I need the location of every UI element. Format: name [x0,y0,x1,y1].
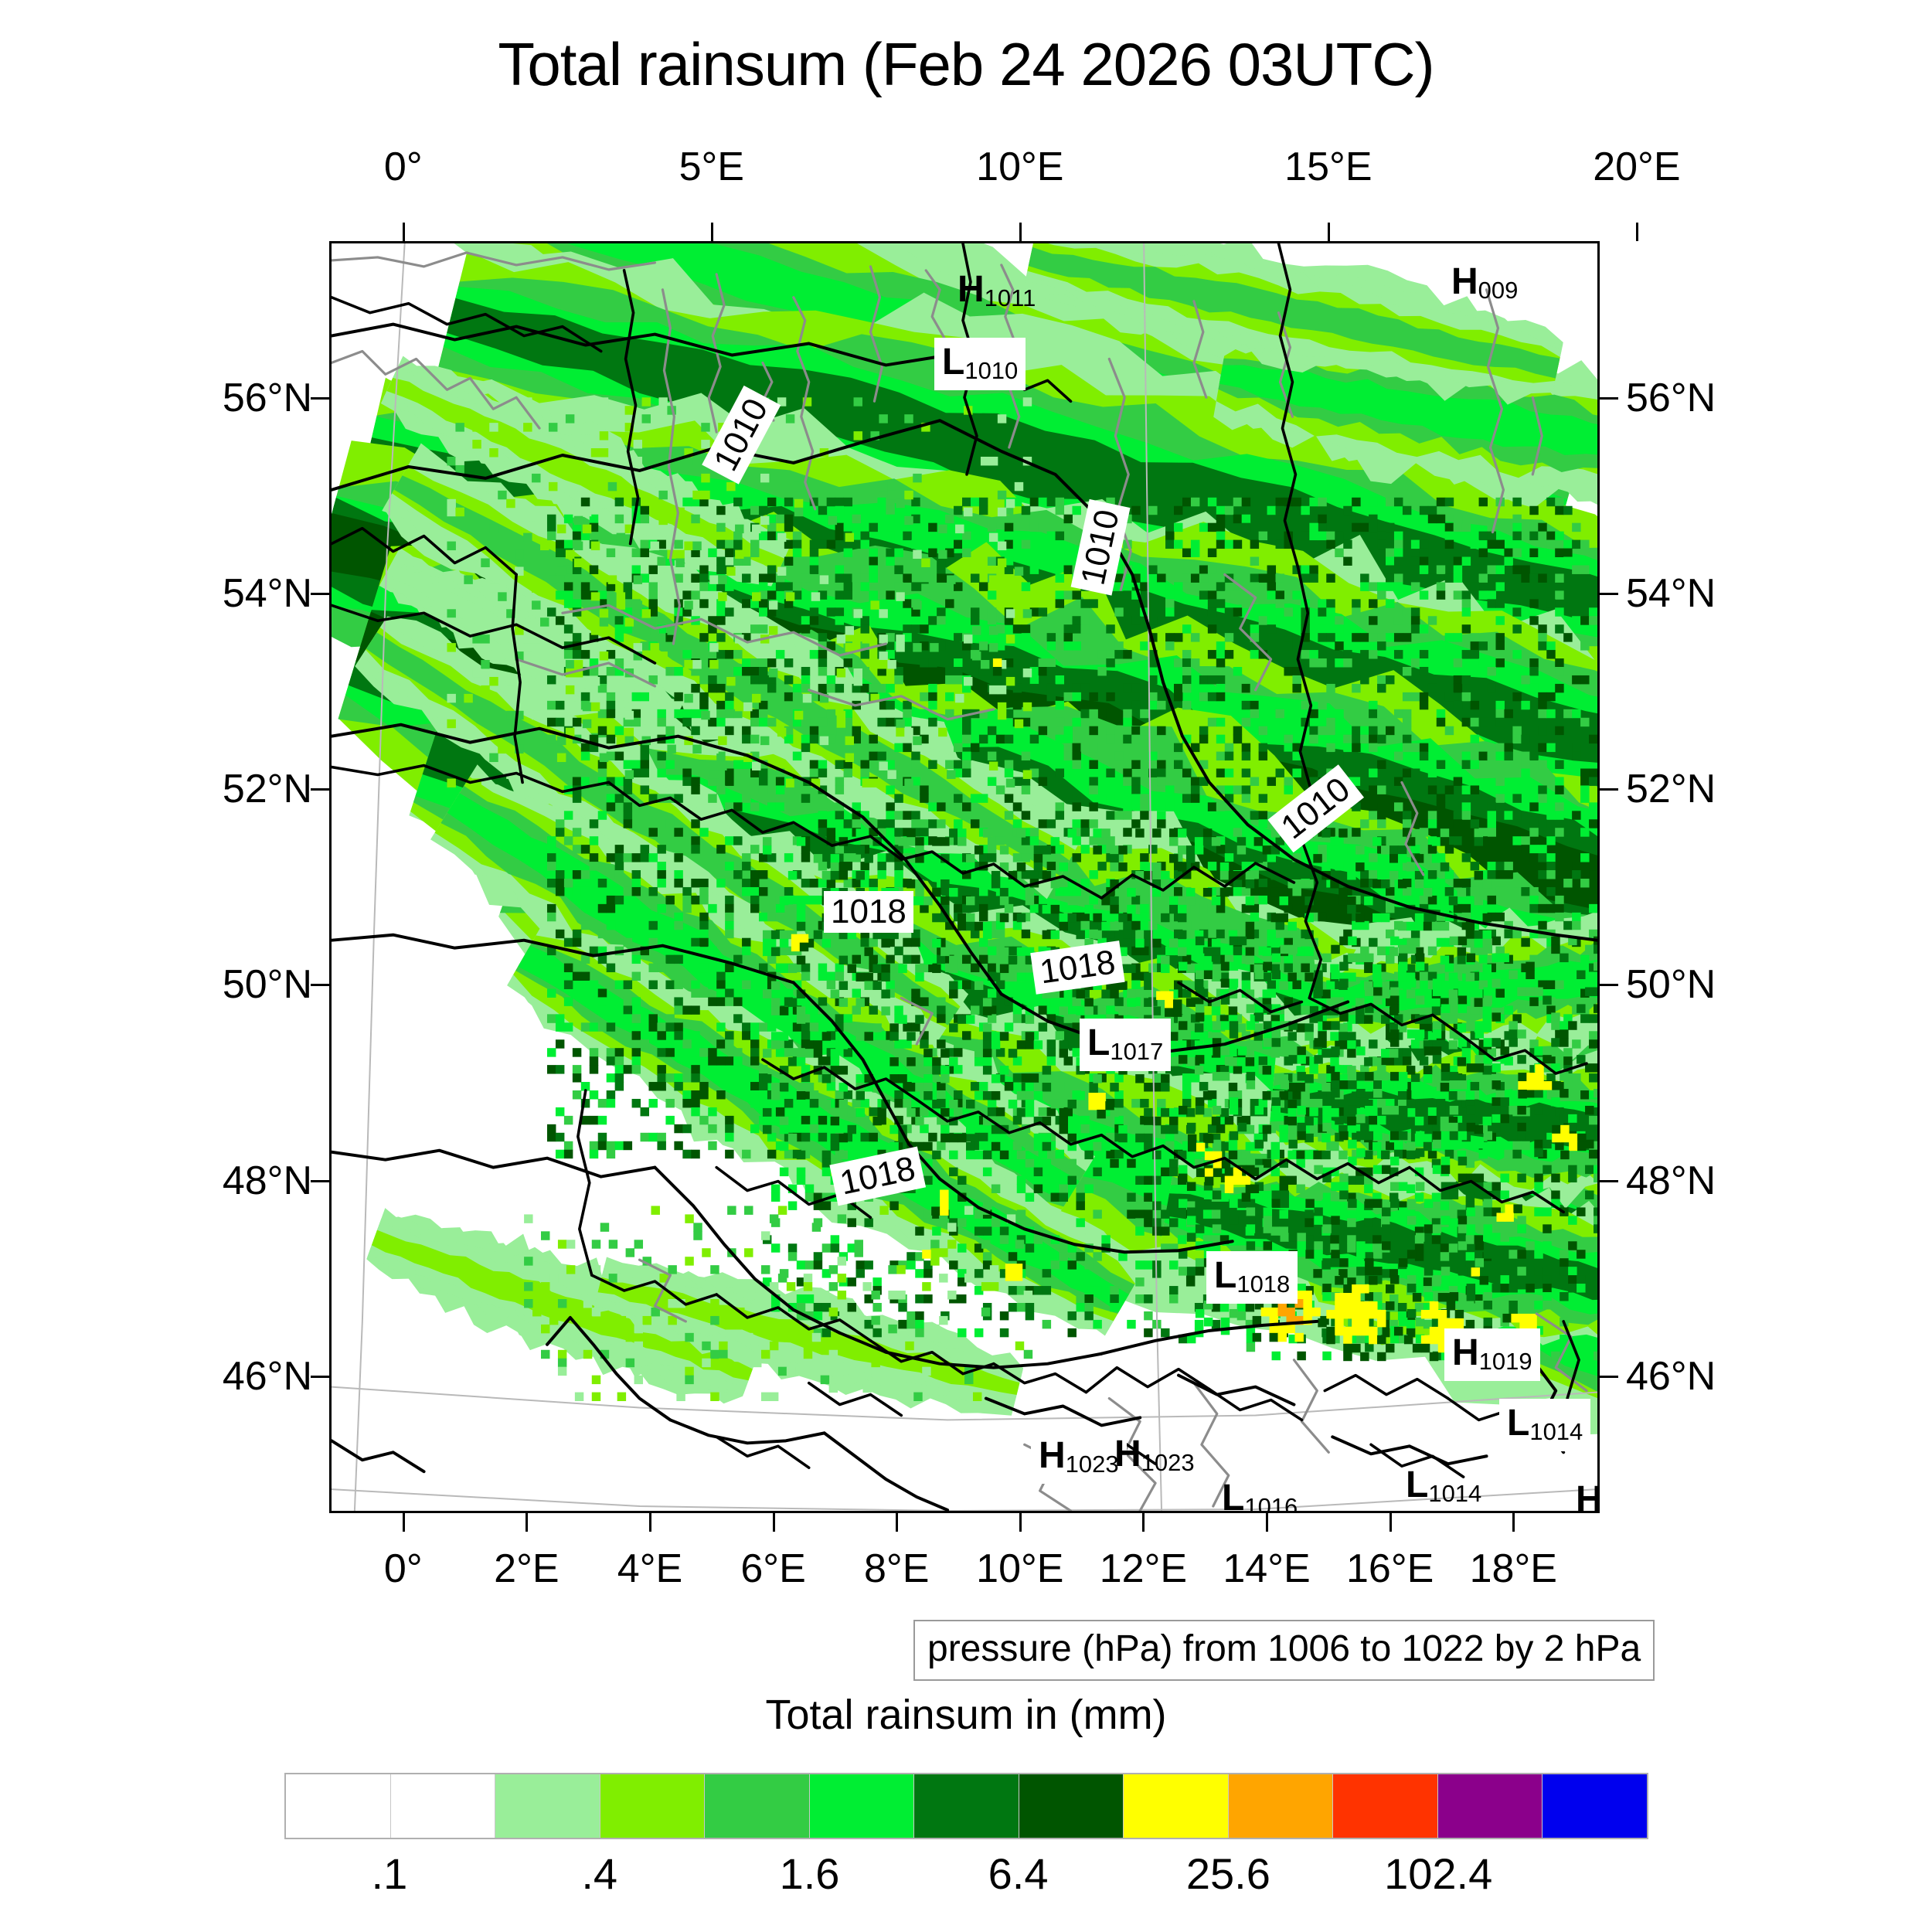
colorbar-cell-7[interactable] [1019,1774,1124,1838]
left-axis-tick-0 [311,397,329,400]
colorbar-cell-3[interactable] [600,1774,706,1838]
right-axis-label-3: 50°N [1626,961,1716,1008]
top-axis-tick-3 [1328,223,1330,241]
top-axis-tick-0 [403,223,405,241]
pressure-legend-box: pressure (hPa) from 1006 to 1022 by 2 hP… [913,1620,1655,1681]
colorbar-cell-8[interactable] [1124,1774,1229,1838]
bottom-axis-label-9: 18°E [1470,1546,1557,1592]
bottom-axis-tick-9 [1512,1513,1515,1532]
colorbar-cell-11[interactable] [1438,1774,1543,1838]
right-axis-tick-0 [1600,397,1618,400]
bottom-axis-tick-4 [896,1513,898,1532]
right-axis-label-0: 56°N [1626,375,1716,421]
left-axis-label-3: 50°N [223,961,312,1008]
colorbar-tick-4: 25.6 [1186,1849,1270,1899]
bottom-axis-label-7: 14°E [1223,1546,1310,1592]
top-axis-tick-2 [1019,223,1022,241]
right-axis-label-1: 54°N [1626,570,1716,617]
bottom-axis-label-5: 10°E [976,1546,1063,1592]
bottom-axis-label-1: 2°E [494,1546,559,1592]
top-axis-label-2: 10°E [976,144,1063,190]
colorbar-cell-10[interactable] [1333,1774,1438,1838]
bottom-axis-label-3: 6°E [740,1546,805,1592]
left-axis-tick-2 [311,788,329,791]
left-axis-tick-5 [311,1376,329,1378]
top-axis-label-4: 20°E [1593,144,1680,190]
bottom-axis-tick-5 [1019,1513,1022,1532]
left-axis-tick-1 [311,593,329,595]
left-axis-label-1: 54°N [223,570,312,617]
colorbar-tick-1: .4 [581,1849,617,1899]
colorbar-tick-3: 6.4 [988,1849,1049,1899]
page-title: Total rainsum (Feb 24 2026 03UTC) [0,29,1932,100]
bottom-axis-label-2: 4°E [617,1546,682,1592]
right-axis-tick-5 [1600,1376,1618,1378]
bottom-axis-label-4: 8°E [864,1546,929,1592]
weather-map-canvas [332,243,1597,1511]
right-axis-label-4: 48°N [1626,1158,1716,1204]
colorbar-cell-12[interactable] [1543,1774,1647,1838]
bottom-axis-tick-1 [526,1513,528,1532]
top-axis-tick-4 [1636,223,1638,241]
colorbar-tick-2: 1.6 [780,1849,840,1899]
colorbar-cell-2[interactable] [495,1774,600,1838]
right-axis-tick-4 [1600,1180,1618,1182]
bottom-axis-tick-2 [649,1513,651,1532]
top-axis-tick-1 [711,223,713,241]
colorbar[interactable] [284,1773,1648,1839]
top-axis-label-3: 15°E [1284,144,1372,190]
left-axis-label-2: 52°N [223,766,312,812]
right-axis-tick-2 [1600,788,1618,791]
colorbar-cell-9[interactable] [1229,1774,1334,1838]
top-axis-label-1: 5°E [679,144,744,190]
colorbar-cell-0[interactable] [286,1774,391,1838]
bottom-axis-tick-8 [1389,1513,1392,1532]
right-axis-label-5: 46°N [1626,1353,1716,1400]
left-axis-tick-3 [311,984,329,986]
right-axis-label-2: 52°N [1626,766,1716,812]
left-axis-label-5: 46°N [223,1353,312,1400]
colorbar-tick-labels: .1.41.66.425.6102.4 [284,1849,1648,1910]
colorbar-cell-6[interactable] [914,1774,1019,1838]
bottom-axis-tick-3 [773,1513,775,1532]
colorbar-cell-5[interactable] [810,1774,915,1838]
map-plot-area[interactable]: H1011H009L1010L1017L1011L1018H1019L1014L… [329,241,1600,1513]
bottom-axis-label-0: 0° [384,1546,423,1592]
bottom-axis-label-8: 16°E [1346,1546,1434,1592]
top-axis-label-0: 0° [384,144,423,190]
colorbar-cell-1[interactable] [391,1774,496,1838]
left-axis-tick-4 [311,1180,329,1182]
left-axis-label-0: 56°N [223,375,312,421]
bottom-axis-label-6: 12°E [1100,1546,1187,1592]
right-axis-tick-3 [1600,984,1618,986]
colorbar-title: Total rainsum in (mm) [0,1691,1932,1739]
bottom-axis-tick-6 [1142,1513,1145,1532]
colorbar-cell-4[interactable] [705,1774,810,1838]
right-axis-tick-1 [1600,593,1618,595]
left-axis-label-4: 48°N [223,1158,312,1204]
colorbar-tick-0: .1 [372,1849,408,1899]
bottom-axis-tick-7 [1266,1513,1268,1532]
bottom-axis-tick-0 [403,1513,405,1532]
colorbar-tick-5: 102.4 [1384,1849,1492,1899]
